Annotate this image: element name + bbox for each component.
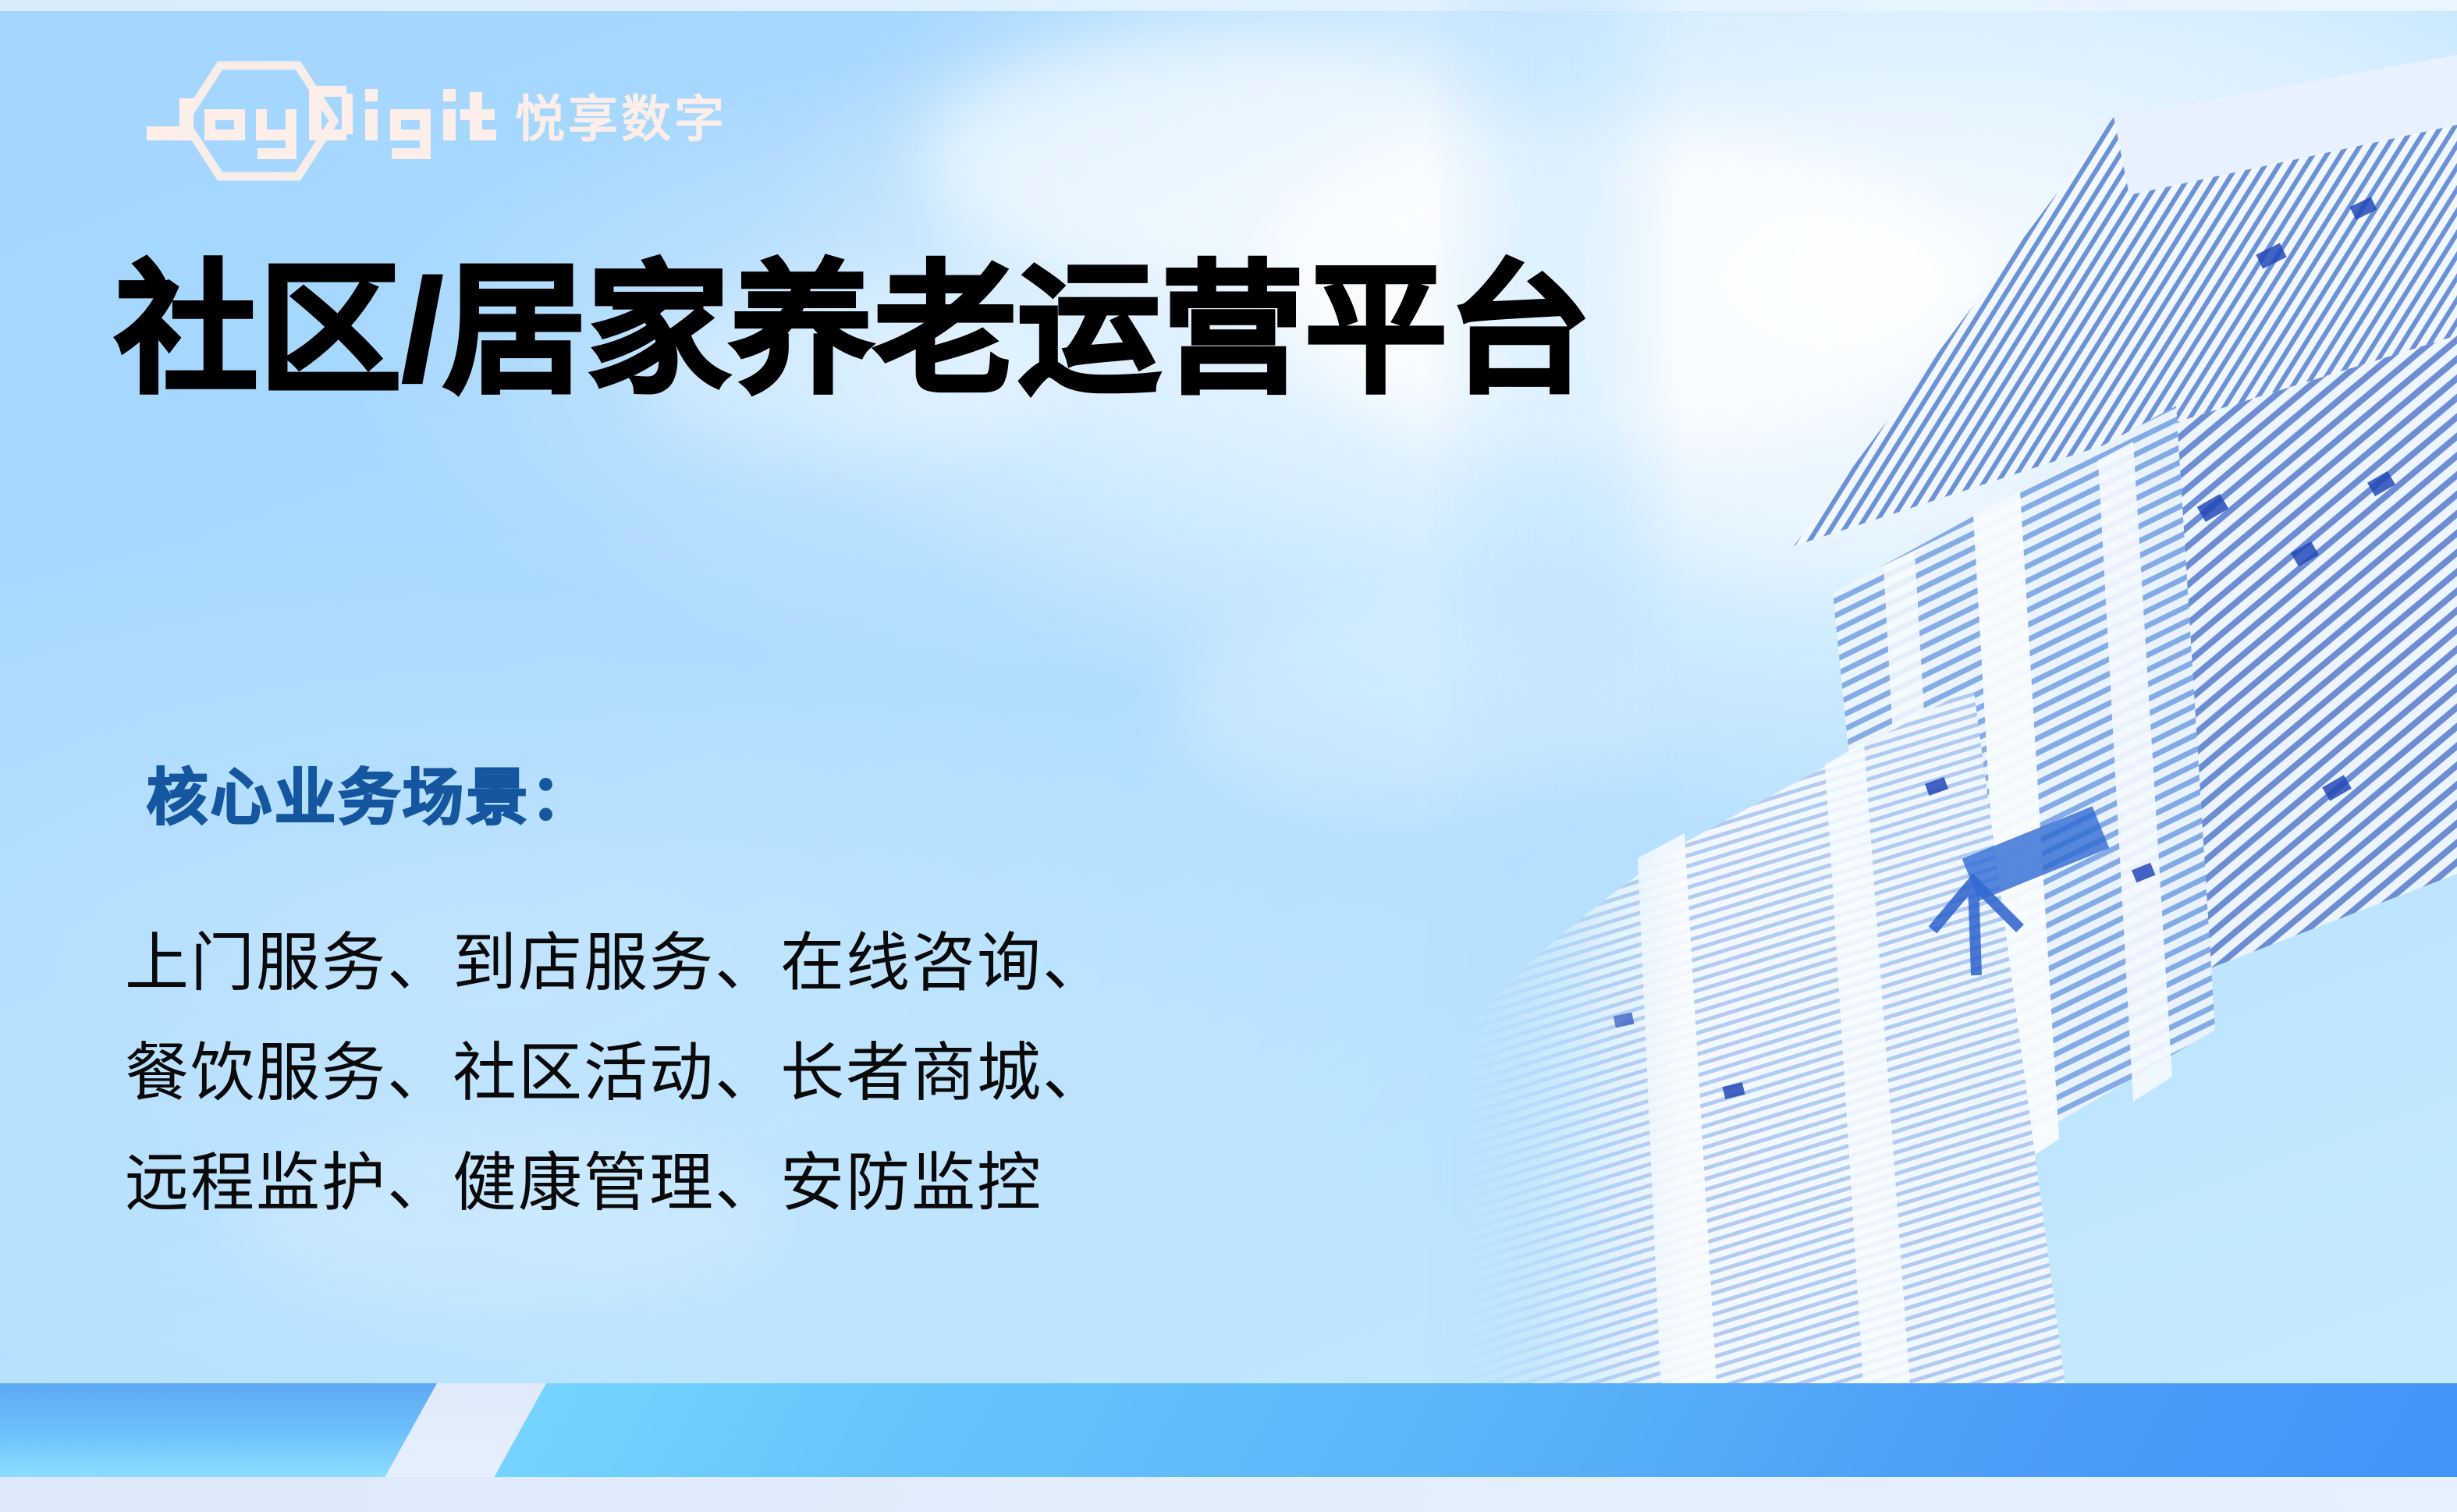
scenario-line: 上门服务、到店服务、在线咨询、 [125,922,1607,1004]
brand-logo-cn: 悦享数字 [515,80,727,151]
scenario-line: 远程监护、健康管理、安防监控 [125,1142,1607,1224]
brand-logo[interactable]: 悦享数字 [133,61,663,182]
bottom-banner [0,1383,2457,1477]
page-title: 社区/居家养老运营平台 [115,259,1592,401]
bottom-strip [0,1477,2457,1512]
scenario-list: 上门服务、到店服务、在线咨询、 餐饮服务、社区活动、长者商城、 远程监护、健康管… [125,922,1607,1224]
banner-shape-right [494,1383,2457,1477]
scenario-line: 餐饮服务、社区活动、长者商城、 [125,1032,1607,1114]
slide-root: 悦享数字 社区/居家养老运营平台 核心业务场景： 上门服务、到店服务、在线咨询、… [0,0,2457,1512]
section-heading: 核心业务场景： [147,767,595,828]
